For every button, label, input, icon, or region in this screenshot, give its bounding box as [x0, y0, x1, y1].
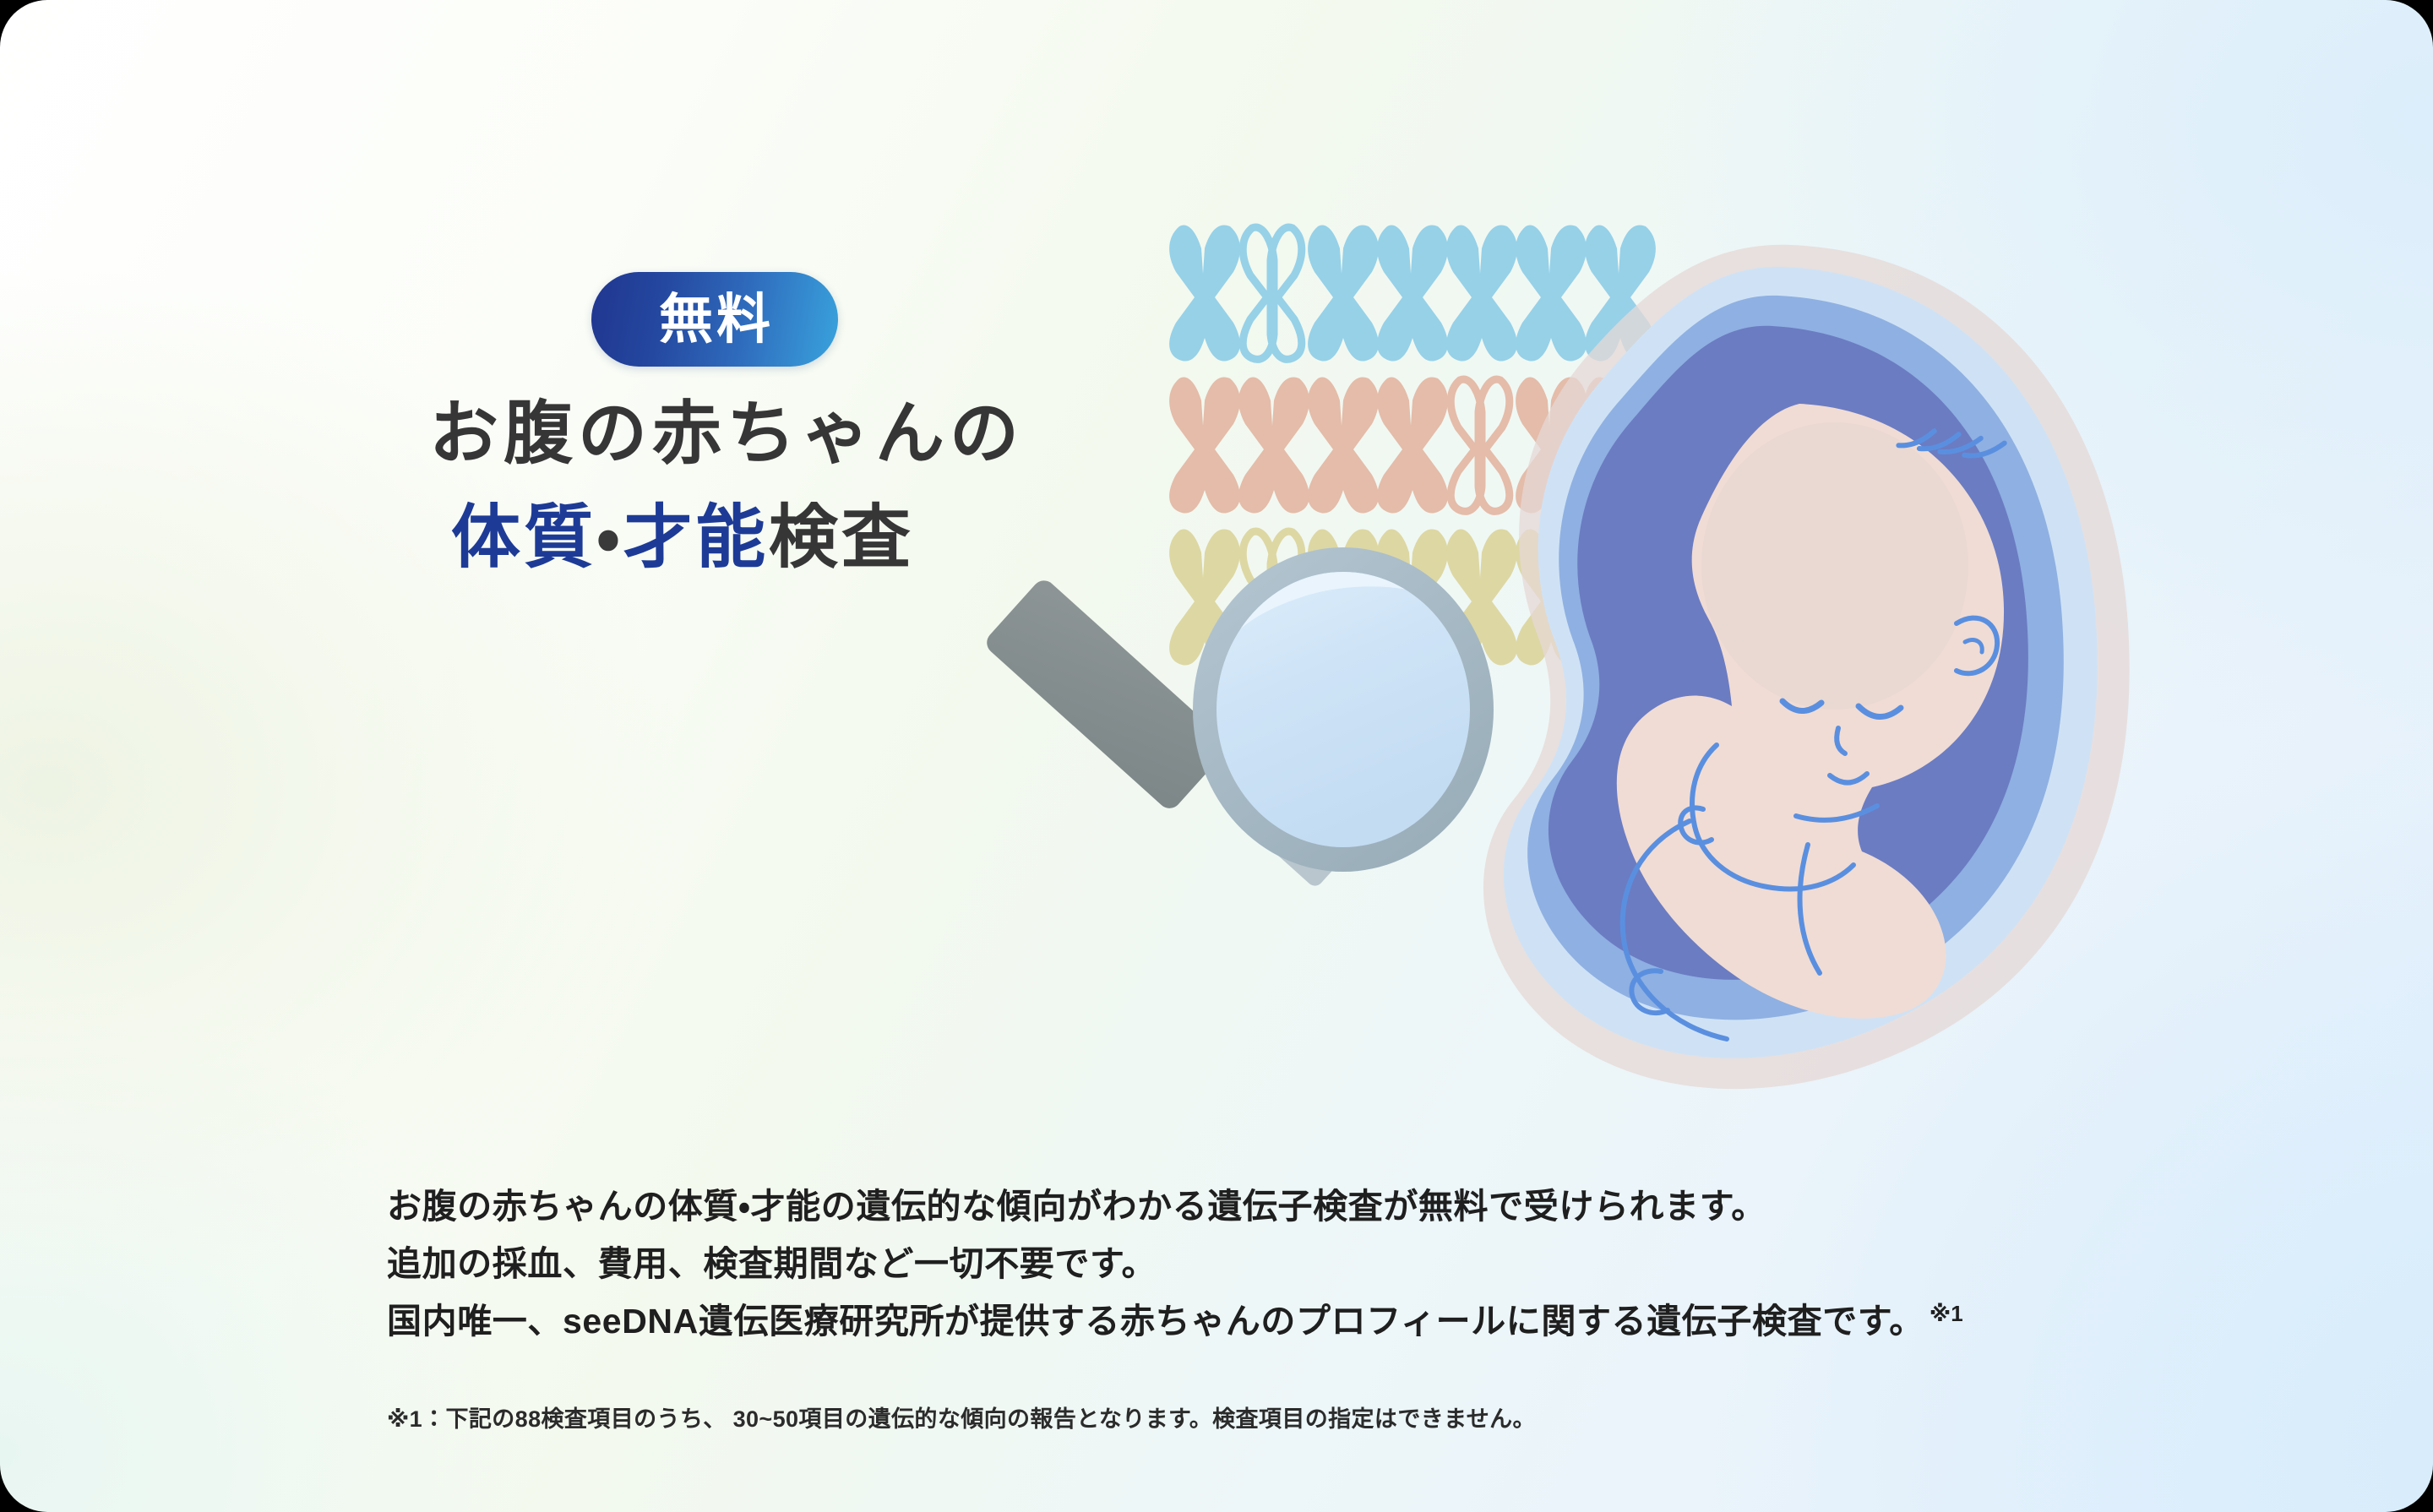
title-accent-sainou: 才能 [623, 499, 769, 576]
hero-card: 無料 お腹の赤ちゃんの 体質・才能検査 お腹の赤ちゃんの体質・才能の遺伝的な傾向… [0, 0, 2433, 1512]
footnote-reference: ※1 [1930, 1301, 1963, 1326]
title-kensa: 検査 [769, 499, 914, 576]
title-separator: ・ [596, 499, 623, 576]
footnote-text: ※1：下記の88検査項目のうち、 30~50項目の遺伝的な傾向の報告となります。… [387, 1401, 1536, 1433]
free-badge-label: 無料 [656, 292, 774, 346]
text-content: 無料 お腹の赤ちゃんの 体質・才能検査 お腹の赤ちゃんの体質・才能の遺伝的な傾向… [0, 0, 2433, 1512]
body-line-1: お腹の赤ちゃんの体質・才能の遺伝的な傾向がわかる遺伝子検査が無料で受けられます。 [387, 1178, 2127, 1235]
body-line-3: 国内唯一、seeDNA遺伝医療研究所が提供する赤ちゃんのプロフィールに関する遺伝… [387, 1292, 2127, 1350]
body-copy: お腹の赤ちゃんの体質・才能の遺伝的な傾向がわかる遺伝子検査が無料で受けられます。… [387, 1178, 2127, 1350]
body-line-2: 追加の採血、費用、検査期間など一切不要です。 [387, 1235, 2127, 1292]
title-accent-taishitsu: 体質 [451, 499, 596, 576]
title-line-2: 体質・才能検査 [429, 486, 1274, 590]
free-badge: 無料 [591, 272, 838, 367]
page-title: お腹の赤ちゃんの 体質・才能検査 [429, 382, 1274, 590]
body-line-3-text: 国内唯一、seeDNA遺伝医療研究所が提供する赤ちゃんのプロフィールに関する遺伝… [387, 1302, 1924, 1341]
title-line-1: お腹の赤ちゃんの [429, 382, 1274, 486]
